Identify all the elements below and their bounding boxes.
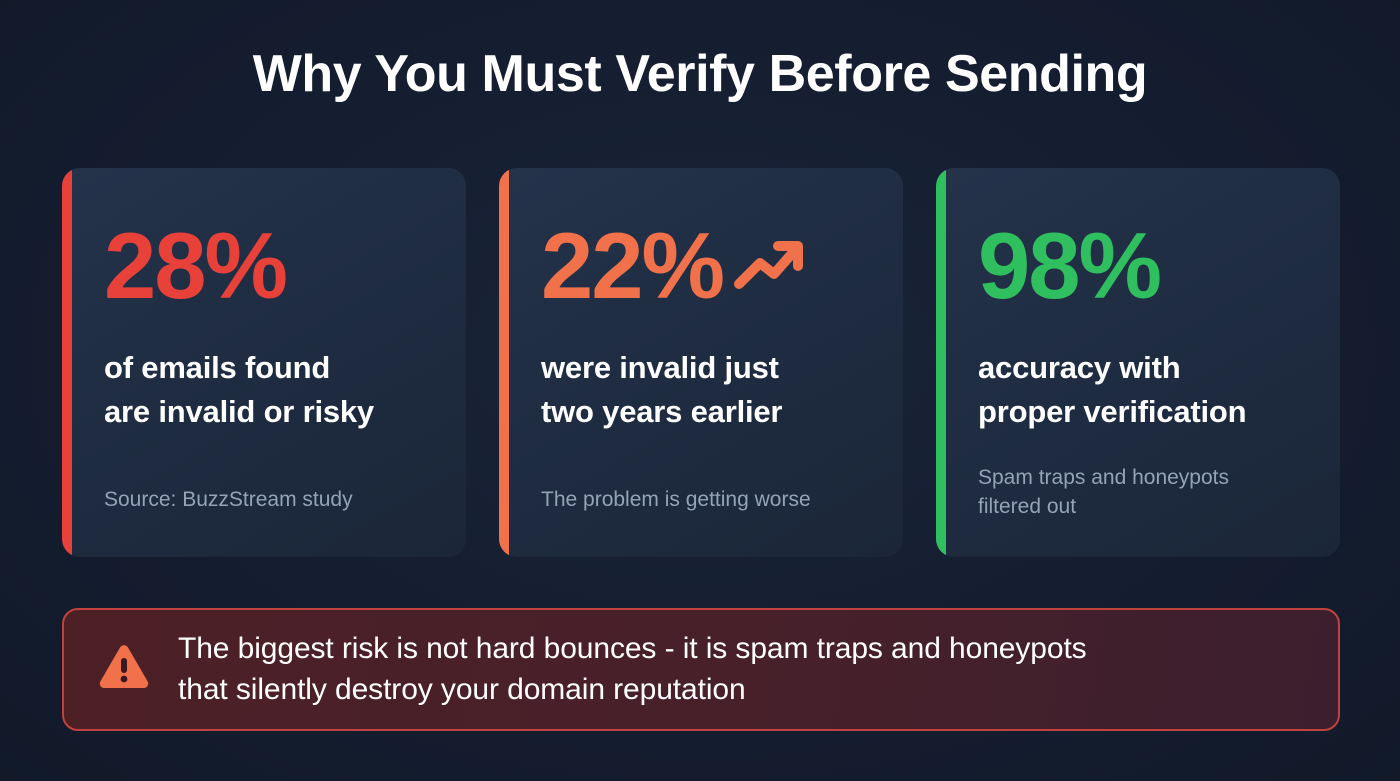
stat-row: 98%: [978, 220, 1306, 324]
stat-note: Spam traps and honeypots filtered out: [978, 464, 1310, 522]
infographic-page: Why You Must Verify Before Sending 28% o…: [0, 0, 1400, 781]
stat-note: The problem is getting worse: [541, 486, 873, 515]
stat-card-row: 28% of emails found are invalid or risky…: [62, 168, 1340, 557]
stat-row: 28%: [104, 220, 432, 324]
stat-value: 22%: [541, 220, 723, 312]
stat-note: Source: BuzzStream study: [104, 486, 436, 515]
card-accent-bar: [62, 168, 72, 557]
stat-card-28: 28% of emails found are invalid or risky…: [62, 168, 466, 557]
warning-banner-text: The biggest risk is not hard bounces - i…: [178, 629, 1087, 711]
stat-card-22: 22% were invalid just two years earlier …: [499, 168, 903, 557]
card-accent-bar: [499, 168, 509, 557]
warning-triangle-icon: [98, 643, 150, 696]
stat-label: of emails found are invalid or risky: [104, 346, 432, 435]
stat-row: 22%: [541, 220, 869, 324]
stat-value: 28%: [104, 220, 286, 312]
stat-value: 98%: [978, 220, 1160, 312]
stat-label: accuracy with proper verification: [978, 346, 1306, 435]
trending-up-icon: [733, 236, 807, 297]
page-title: Why You Must Verify Before Sending: [0, 46, 1400, 103]
warning-banner: The biggest risk is not hard bounces - i…: [62, 608, 1340, 731]
stat-card-98: 98% accuracy with proper verification Sp…: [936, 168, 1340, 557]
card-accent-bar: [936, 168, 946, 557]
stat-label: were invalid just two years earlier: [541, 346, 869, 435]
